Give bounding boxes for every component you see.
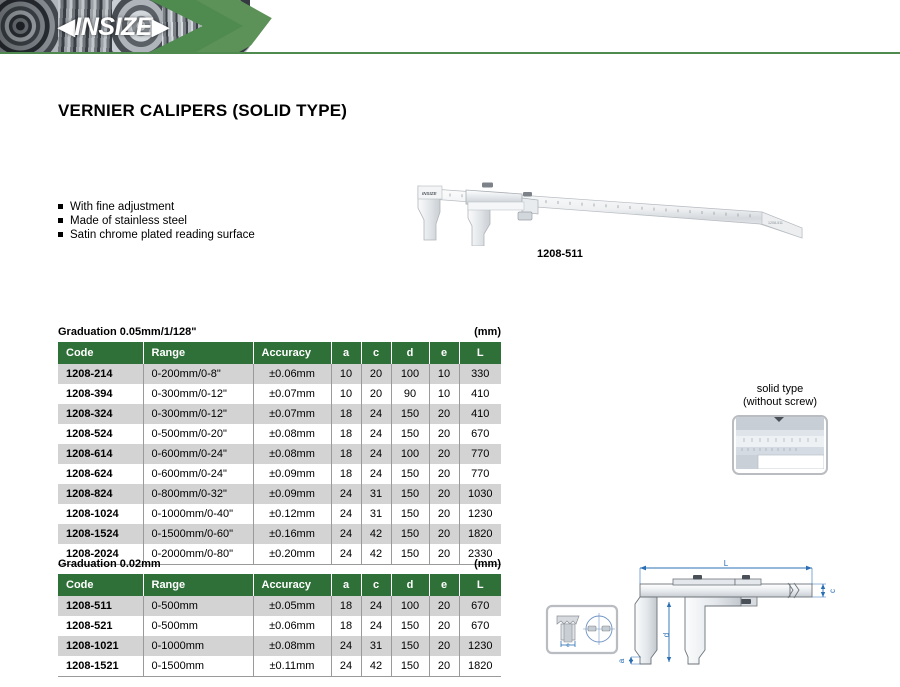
cell-code: 1208-324 — [58, 404, 143, 424]
bullet-square-icon — [58, 218, 63, 223]
cell-code: 1208-624 — [58, 464, 143, 484]
cell-accuracy: ±0.06mm — [253, 364, 331, 384]
cell-code: 1208-1024 — [58, 504, 143, 524]
table-header-row: Code Range Accuracy a c d e L — [58, 342, 501, 364]
cell-a: 18 — [331, 404, 361, 424]
cell-accuracy: ±0.11mm — [253, 656, 331, 677]
cell-d: 100 — [391, 444, 429, 464]
cell-l: 670 — [459, 596, 501, 616]
cell-code: 1208-824 — [58, 484, 143, 504]
column-header-range: Range — [143, 342, 253, 364]
cell-range: 0-300mm/0-12" — [143, 404, 253, 424]
cell-range: 0-1500mm/0-60" — [143, 524, 253, 544]
cell-a: 24 — [331, 636, 361, 656]
cell-a: 10 — [331, 384, 361, 404]
cell-a: 18 — [331, 596, 361, 616]
cell-d: 150 — [391, 504, 429, 524]
cell-code: 1208-524 — [58, 424, 143, 444]
table-row: 1208-524 0-500mm/0-20" ±0.08mm 18 24 150… — [58, 424, 501, 444]
cell-d: 150 — [391, 464, 429, 484]
cell-range: 0-600mm/0-24" — [143, 464, 253, 484]
feature-label: Satin chrome plated reading surface — [70, 228, 255, 242]
cell-range: 0-500mm — [143, 596, 253, 616]
cell-code: 1208-1524 — [58, 524, 143, 544]
cell-d: 150 — [391, 404, 429, 424]
cell-e: 20 — [429, 616, 459, 636]
cell-c: 24 — [361, 404, 391, 424]
cell-accuracy: ±0.09mm — [253, 484, 331, 504]
table-caption: Graduation 0.02mm (mm) — [58, 558, 501, 570]
spec-table-2: Graduation 0.02mm (mm) Code Range Accura… — [58, 558, 501, 677]
cell-l: 410 — [459, 404, 501, 424]
column-header-a: a — [331, 342, 361, 364]
table-row: 1208-1024 0-1000mm/0-40" ±0.12mm 24 31 1… — [58, 504, 501, 524]
cell-code: 1208-214 — [58, 364, 143, 384]
solid-type-label-line1: solid type — [700, 383, 860, 396]
cell-c: 20 — [361, 364, 391, 384]
cell-range: 0-300mm/0-12" — [143, 384, 253, 404]
cell-code: 1208-1521 — [58, 656, 143, 677]
cell-range: 0-500mm — [143, 616, 253, 636]
table-header-row: Code Range Accuracy a c d e L — [58, 574, 501, 596]
solid-type-photo — [732, 415, 828, 475]
cell-l: 410 — [459, 384, 501, 404]
cell-accuracy: ±0.09mm — [253, 464, 331, 484]
cell-range: 0-1000mm/0-40" — [143, 504, 253, 524]
cell-accuracy: ±0.08mm — [253, 444, 331, 464]
cell-d: 150 — [391, 636, 429, 656]
svg-text:1208-511: 1208-511 — [768, 221, 783, 225]
cell-range: 0-1500mm — [143, 656, 253, 677]
cell-d: 90 — [391, 384, 429, 404]
table-row: 1208-1521 0-1500mm ±0.11mm 24 42 150 20 … — [58, 656, 501, 677]
product-caption: 1208-511 — [537, 248, 583, 260]
cell-d: 150 — [391, 656, 429, 677]
cell-d: 150 — [391, 484, 429, 504]
dimension-label-d: d — [662, 633, 671, 637]
cell-e: 20 — [429, 596, 459, 616]
cell-c: 31 — [361, 636, 391, 656]
cell-c: 42 — [361, 656, 391, 677]
column-header-c: c — [361, 574, 391, 596]
cell-c: 31 — [361, 484, 391, 504]
cell-l: 1230 — [459, 636, 501, 656]
table-caption: Graduation 0.05mm/1/128" (mm) — [58, 326, 501, 338]
column-header-l: L — [459, 574, 501, 596]
cell-accuracy: ±0.08mm — [253, 424, 331, 444]
cell-a: 18 — [331, 444, 361, 464]
cell-a: 18 — [331, 464, 361, 484]
cell-accuracy: ±0.16mm — [253, 524, 331, 544]
cell-c: 24 — [361, 616, 391, 636]
feature-label: Made of stainless steel — [70, 214, 187, 228]
cell-a: 18 — [331, 424, 361, 444]
feature-list: With fine adjustment Made of stainless s… — [58, 200, 255, 243]
cell-c: 24 — [361, 464, 391, 484]
cell-l: 1030 — [459, 484, 501, 504]
cell-l: 670 — [459, 616, 501, 636]
table-row: 1208-214 0-200mm/0-8" ±0.06mm 10 20 100 … — [58, 364, 501, 384]
cell-e: 10 — [429, 364, 459, 384]
cell-c: 24 — [361, 444, 391, 464]
logo-arrow-left-icon: ◀ — [58, 16, 74, 38]
column-header-c: c — [361, 342, 391, 364]
table-row: 1208-324 0-300mm/0-12" ±0.07mm 18 24 150… — [58, 404, 501, 424]
cell-e: 20 — [429, 444, 459, 464]
cell-e: 20 — [429, 424, 459, 444]
cell-l: 1230 — [459, 504, 501, 524]
cell-accuracy: ±0.06mm — [253, 616, 331, 636]
cell-e: 20 — [429, 464, 459, 484]
cell-code: 1208-1021 — [58, 636, 143, 656]
cell-a: 24 — [331, 484, 361, 504]
table-row: 1208-511 0-500mm ±0.05mm 18 24 100 20 67… — [58, 596, 501, 616]
cell-range: 0-800mm/0-32" — [143, 484, 253, 504]
cell-c: 24 — [361, 596, 391, 616]
table-unit-label: (mm) — [474, 558, 501, 570]
dimension-label-a: a — [617, 658, 626, 663]
cell-a: 10 — [331, 364, 361, 384]
brand-logo: ◀ INSIZE ▶ — [58, 14, 168, 40]
list-item: Satin chrome plated reading surface — [58, 228, 255, 242]
cell-l: 1820 — [459, 524, 501, 544]
table-row: 1208-521 0-500mm ±0.06mm 18 24 150 20 67… — [58, 616, 501, 636]
table-caption-text: Graduation 0.02mm — [58, 558, 161, 570]
cell-code: 1208-521 — [58, 616, 143, 636]
bullet-square-icon — [58, 232, 63, 237]
dimension-label-L: L — [724, 559, 729, 568]
cell-accuracy: ±0.07mm — [253, 384, 331, 404]
column-header-code: Code — [58, 342, 143, 364]
cell-c: 31 — [361, 504, 391, 524]
cell-e: 20 — [429, 404, 459, 424]
cell-c: 24 — [361, 424, 391, 444]
cell-range: 0-500mm/0-20" — [143, 424, 253, 444]
cell-e: 20 — [429, 484, 459, 504]
column-header-l: L — [459, 342, 501, 364]
banner-white-mask — [246, 0, 900, 52]
cell-code: 1208-614 — [58, 444, 143, 464]
cell-l: 330 — [459, 364, 501, 384]
solid-type-label-line2: (without screw) — [700, 396, 860, 409]
cell-code: 1208-394 — [58, 384, 143, 404]
list-item: With fine adjustment — [58, 200, 255, 214]
column-header-a: a — [331, 574, 361, 596]
cell-l: 1820 — [459, 656, 501, 677]
column-header-code: Code — [58, 574, 143, 596]
feature-label: With fine adjustment — [70, 200, 174, 214]
column-header-range: Range — [143, 574, 253, 596]
cell-a: 24 — [331, 524, 361, 544]
cell-accuracy: ±0.08mm — [253, 636, 331, 656]
cell-a: 24 — [331, 656, 361, 677]
cell-l: 770 — [459, 444, 501, 464]
cell-d: 150 — [391, 616, 429, 636]
table-row: 1208-824 0-800mm/0-32" ±0.09mm 24 31 150… — [58, 484, 501, 504]
cell-d: 100 — [391, 364, 429, 384]
dimension-drawing: e L — [545, 558, 895, 683]
cell-c: 42 — [361, 524, 391, 544]
cell-e: 20 — [429, 656, 459, 677]
bullet-square-icon — [58, 204, 63, 209]
cell-range: 0-600mm/0-24" — [143, 444, 253, 464]
page-title: VERNIER CALIPERS (SOLID TYPE) — [58, 101, 347, 121]
cell-d: 150 — [391, 524, 429, 544]
svg-text:INSIZE: INSIZE — [422, 191, 438, 196]
cell-l: 770 — [459, 464, 501, 484]
column-header-accuracy: Accuracy — [253, 574, 331, 596]
cell-d: 100 — [391, 596, 429, 616]
cell-a: 18 — [331, 616, 361, 636]
column-header-d: d — [391, 574, 429, 596]
table-row: 1208-624 0-600mm/0-24" ±0.09mm 18 24 150… — [58, 464, 501, 484]
cell-e: 20 — [429, 636, 459, 656]
list-item: Made of stainless steel — [58, 214, 255, 228]
spec-table-1: Graduation 0.05mm/1/128" (mm) Code Range… — [58, 326, 501, 565]
cell-code: 1208-511 — [58, 596, 143, 616]
cell-e: 20 — [429, 524, 459, 544]
table-caption-text: Graduation 0.05mm/1/128" — [58, 326, 197, 338]
header-banner: ◀ INSIZE ▶ — [0, 0, 900, 52]
cell-e: 10 — [429, 384, 459, 404]
column-header-accuracy: Accuracy — [253, 342, 331, 364]
cell-accuracy: ±0.12mm — [253, 504, 331, 524]
cell-accuracy: ±0.07mm — [253, 404, 331, 424]
table-row: 1208-1021 0-1000mm ±0.08mm 24 31 150 20 … — [58, 636, 501, 656]
cell-range: 0-200mm/0-8" — [143, 364, 253, 384]
header-divider — [0, 52, 900, 54]
dimension-label-c: c — [828, 589, 837, 593]
table-unit-label: (mm) — [474, 326, 501, 338]
cell-e: 20 — [429, 504, 459, 524]
cell-accuracy: ±0.05mm — [253, 596, 331, 616]
cell-l: 670 — [459, 424, 501, 444]
column-header-d: d — [391, 342, 429, 364]
product-photo: INSIZE 1208-511 — [410, 168, 810, 246]
cell-c: 20 — [361, 384, 391, 404]
cell-d: 150 — [391, 424, 429, 444]
table-row: 1208-394 0-300mm/0-12" ±0.07mm 10 20 90 … — [58, 384, 501, 404]
cell-a: 24 — [331, 504, 361, 524]
table-row: 1208-1524 0-1500mm/0-60" ±0.16mm 24 42 1… — [58, 524, 501, 544]
solid-type-block: solid type (without screw) — [700, 383, 860, 475]
column-header-e: e — [429, 574, 459, 596]
brand-logo-text: INSIZE — [74, 13, 152, 42]
column-header-e: e — [429, 342, 459, 364]
table-row: 1208-614 0-600mm/0-24" ±0.08mm 18 24 100… — [58, 444, 501, 464]
cell-range: 0-1000mm — [143, 636, 253, 656]
logo-arrow-right-icon: ▶ — [152, 16, 168, 38]
